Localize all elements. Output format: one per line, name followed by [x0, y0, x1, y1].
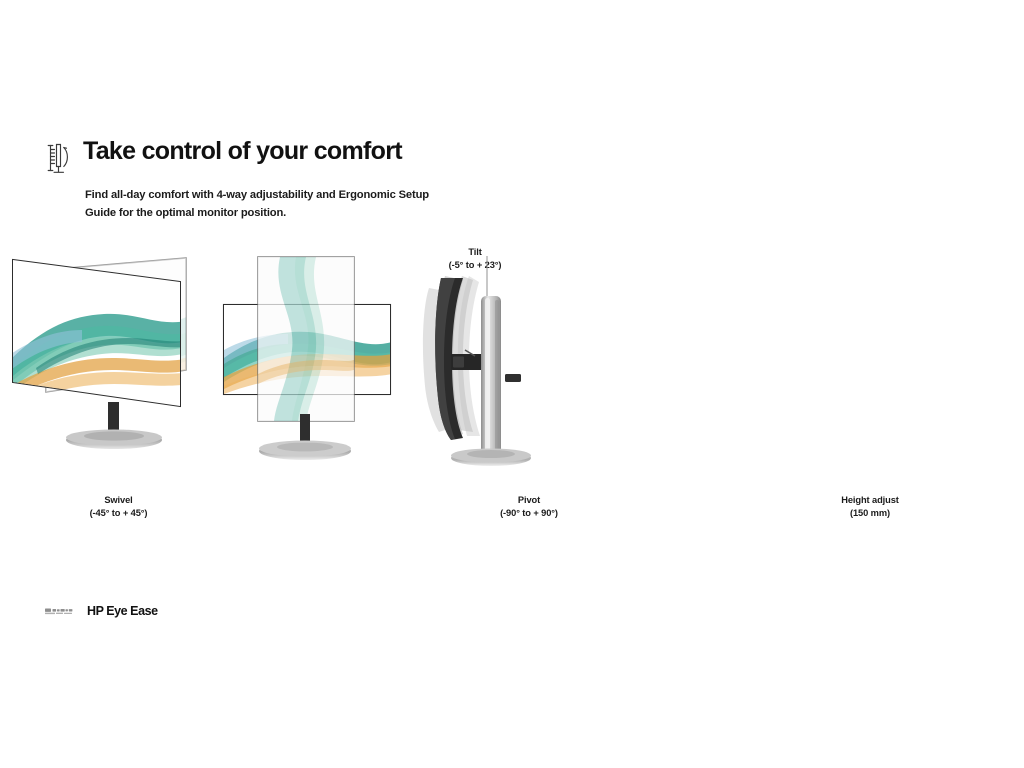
swivel-title: Swivel	[104, 495, 132, 505]
figure-swivel: Swivel (-45° to + 45°)	[8, 246, 213, 486]
footer-label: HP Eye Ease	[87, 604, 158, 618]
adjustability-figures: Tilt (-5° to + 23°)	[0, 246, 560, 536]
height-adjust-range: (150 mm)	[790, 507, 950, 520]
caption-pivot: Pivot (-90° to + 90°)	[444, 494, 614, 521]
swivel-range: (-45° to + 45°)	[16, 507, 221, 520]
subtitle-line-1: Find all-day comfort with 4-way adjustab…	[85, 186, 495, 204]
figure-pivot: Pivot (-90° to + 90°)	[222, 246, 392, 486]
pivot-range: (-90° to + 90°)	[444, 507, 614, 520]
header-row: Take control of your comfort	[44, 138, 564, 176]
figure-height-adjust: Height adjust (150 mm)	[395, 246, 555, 486]
monitor-ergonomics-icon	[44, 140, 74, 176]
monitor-swivel-illustration	[8, 246, 213, 486]
caption-height-adjust: Height adjust (150 mm)	[790, 494, 950, 521]
caption-swivel: Swivel (-45° to + 45°)	[16, 494, 221, 521]
subtitle-line-2: Guide for the optimal monitor position.	[85, 204, 495, 222]
monitor-pivot-illustration	[222, 246, 392, 486]
page-title: Take control of your comfort	[83, 138, 402, 165]
monitor-side-profile-illustration	[395, 246, 555, 486]
slide-canvas: Take control of your comfort Find all-da…	[0, 0, 1024, 768]
header-block: Take control of your comfort Find all-da…	[44, 138, 564, 222]
page-subtitle: Find all-day comfort with 4-way adjustab…	[85, 186, 495, 222]
pivot-title: Pivot	[518, 495, 540, 505]
hp-eye-ease-certification-mark	[44, 603, 74, 619]
height-adjust-title: Height adjust	[841, 495, 899, 505]
footer-block: HP Eye Ease	[44, 603, 158, 619]
